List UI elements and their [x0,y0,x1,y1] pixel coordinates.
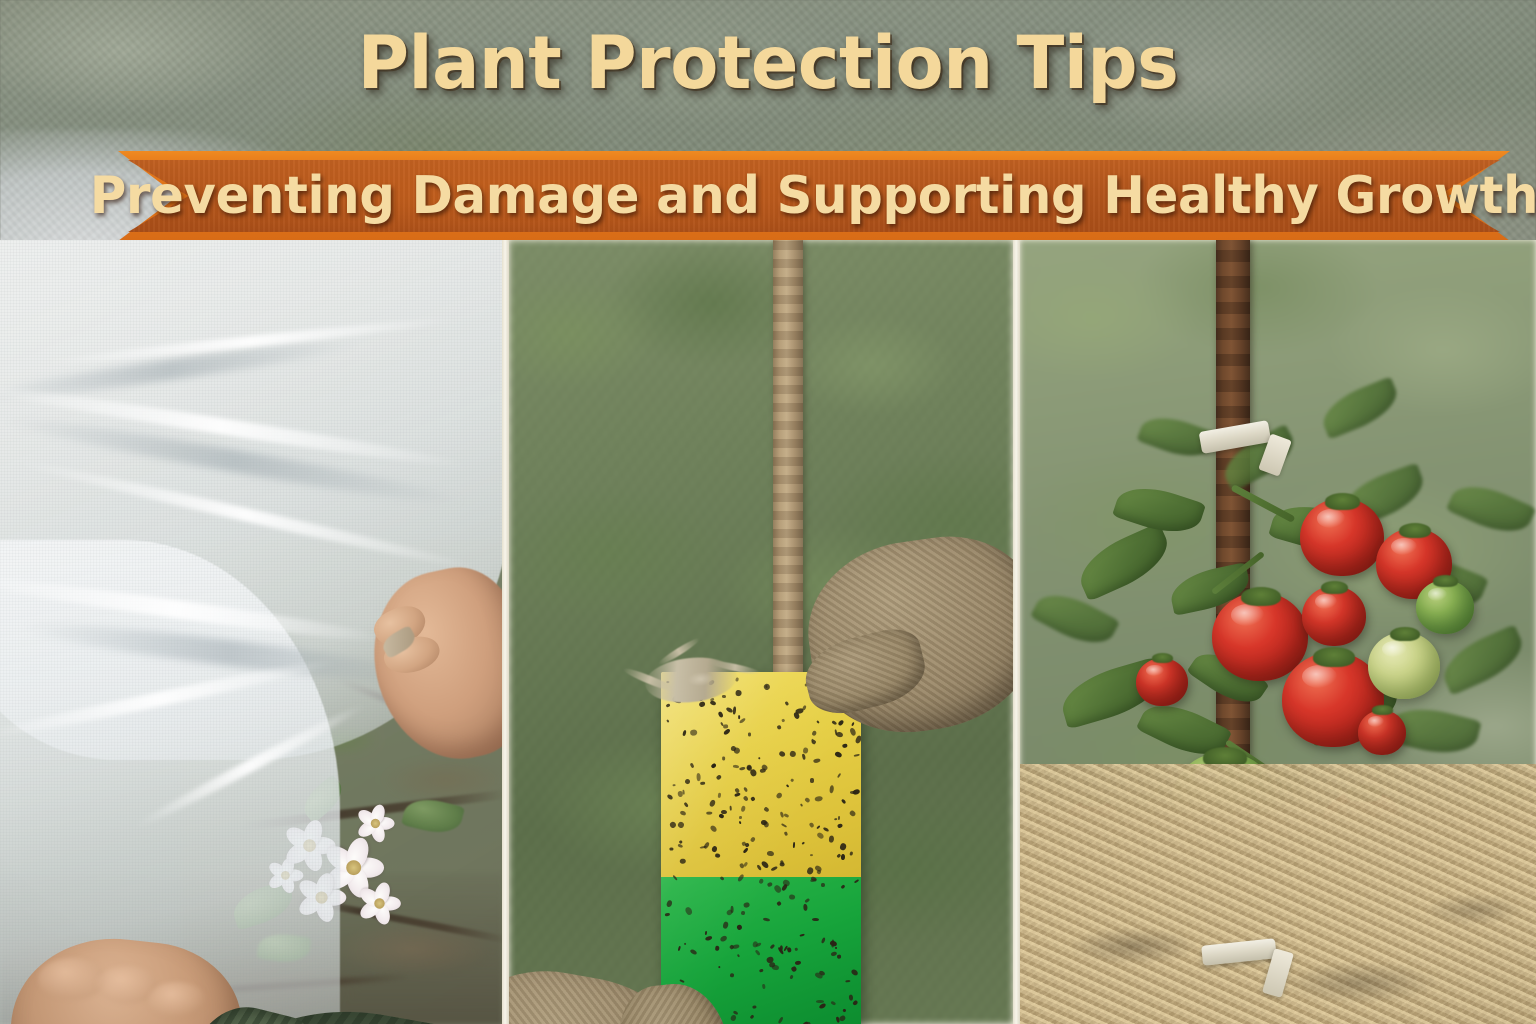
tomato-gloss [1315,594,1337,608]
trapped-insect [760,820,766,825]
tomato-gloss [1146,665,1164,677]
trapped-insect [799,803,802,807]
trapped-insect [735,690,741,696]
tomato-gloss [1302,665,1337,688]
tomato-fruit [1416,580,1474,634]
tomato-fruit [1302,586,1366,646]
panel-staked-tomatoes [1020,240,1536,1024]
tomato-gloss [1317,509,1346,528]
panel-divider [502,240,509,1024]
tomato-gloss [1391,538,1417,555]
tomato-calyx [1321,581,1348,594]
tomato-calyx [1152,653,1174,663]
trapped-insect [821,883,825,887]
tomato-gloss [1231,604,1264,625]
trapped-insect [810,738,813,741]
tomato-gloss [1428,588,1448,601]
trapped-insect [721,810,727,814]
trapped-insect [715,945,720,950]
trapped-insect [723,724,728,728]
trapped-insect [841,854,845,860]
trapped-insect [829,785,834,793]
tomato-fruit [1358,710,1406,755]
trapped-insect [752,1005,756,1008]
poster-root: Plant Protection Tips Preventing Damage … [0,0,1536,1024]
tomato-fruit [1136,658,1188,706]
trapped-insect [812,918,819,921]
trapped-insect [672,784,675,787]
photo-strip [0,240,1536,1024]
trapped-insect [733,764,740,767]
panel-fleece-cover [0,240,502,1024]
blossom-flower [357,881,401,925]
trapped-insect [722,756,725,760]
tomato-calyx [1399,523,1431,538]
tomato-gloss [1382,641,1406,657]
tomato-calyx [1241,587,1281,606]
trapped-insect [784,831,788,835]
sticky-insect-trap [661,672,861,1024]
trapped-insect [669,847,673,850]
trapped-insect [677,791,683,798]
tomato-calyx [1325,493,1360,510]
trapped-insect [837,955,842,959]
tomato-gloss [1368,716,1384,727]
trapped-insect [689,730,697,736]
trapped-insect [772,965,780,971]
panel-divider [1013,240,1020,1024]
trapped-insect [738,715,740,719]
tomato-calyx [1313,647,1356,667]
trapped-insect [803,747,809,753]
tomato-fruit [1368,632,1440,699]
tomato-calyx [1372,705,1392,715]
panel-sticky-trap [509,240,1013,1024]
hand-knuckle [38,958,106,1000]
tomato-calyx [1433,575,1457,587]
page-title: Plant Protection Tips [31,26,1506,102]
trapped-insect [776,724,781,729]
trapped-insect [767,850,774,856]
trapped-insect [845,979,850,982]
page-subtitle: Preventing Damage and Supporting Healthy… [159,160,1469,232]
tomato-calyx [1390,627,1420,641]
trapped-insect [696,773,700,781]
hand-knuckle [148,982,206,1018]
